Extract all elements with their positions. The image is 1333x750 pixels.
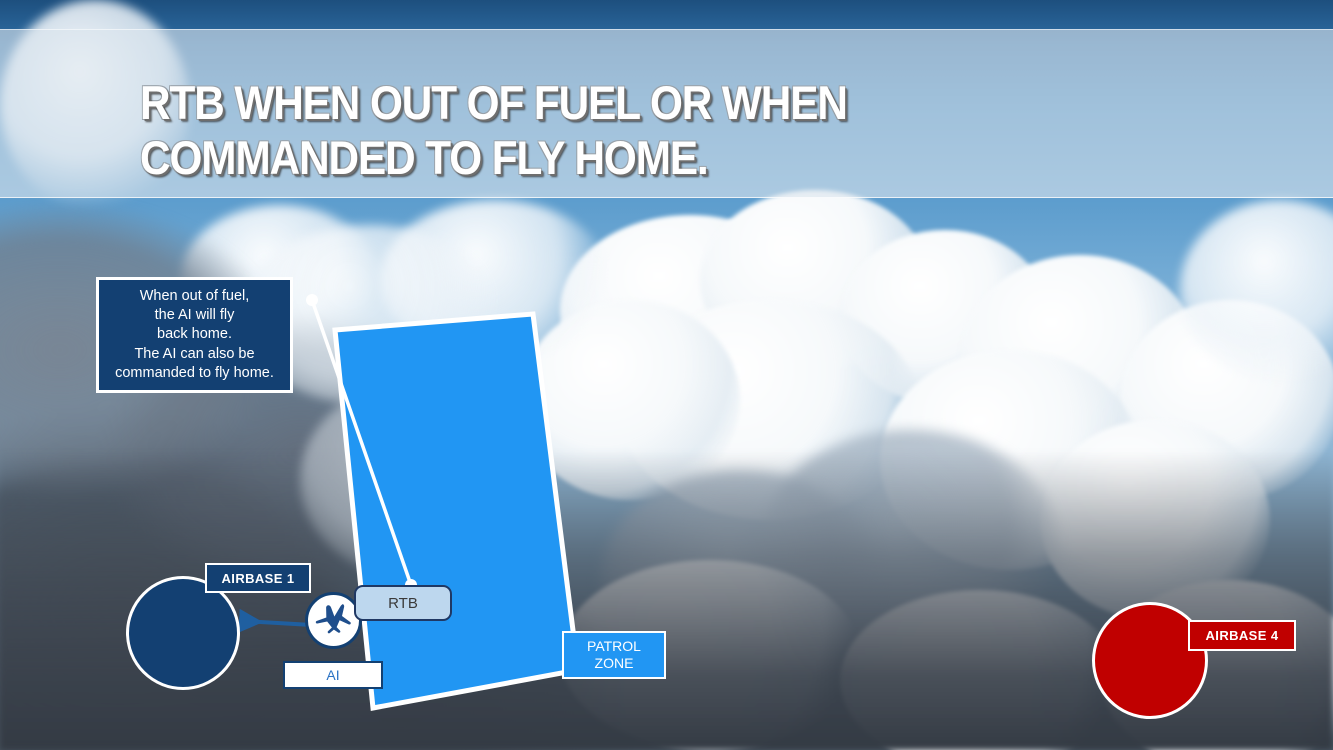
callout-text: When out of fuel, the AI will fly back h…: [115, 287, 274, 383]
fighter-jet-icon: [313, 600, 355, 642]
ai-label[interactable]: AI: [283, 661, 383, 689]
airbase-4-label[interactable]: AIRBASE 4: [1188, 620, 1296, 651]
airbase-4-label-text: AIRBASE 4: [1206, 628, 1279, 643]
patrol-zone-label[interactable]: PATROL ZONE: [562, 631, 666, 679]
airbase-1-circle[interactable]: [126, 576, 240, 690]
return-to-base-arrow: [243, 621, 312, 625]
leader-line-start-dot: [306, 294, 318, 306]
ai-label-text: AI: [326, 667, 339, 683]
callout-box: When out of fuel, the AI will fly back h…: [96, 277, 293, 393]
rtb-box[interactable]: RTB: [354, 585, 452, 621]
rtb-label-text: RTB: [388, 595, 418, 612]
airbase-1-label-text: AIRBASE 1: [222, 571, 295, 586]
patrol-zone-label-text: PATROL ZONE: [587, 638, 641, 672]
presentation-slide: RTB WHEN OUT OF FUEL OR WHEN COMMANDED T…: [0, 0, 1333, 750]
patrol-zone-polygon[interactable]: [335, 314, 578, 708]
airbase-1-label[interactable]: AIRBASE 1: [205, 563, 311, 593]
